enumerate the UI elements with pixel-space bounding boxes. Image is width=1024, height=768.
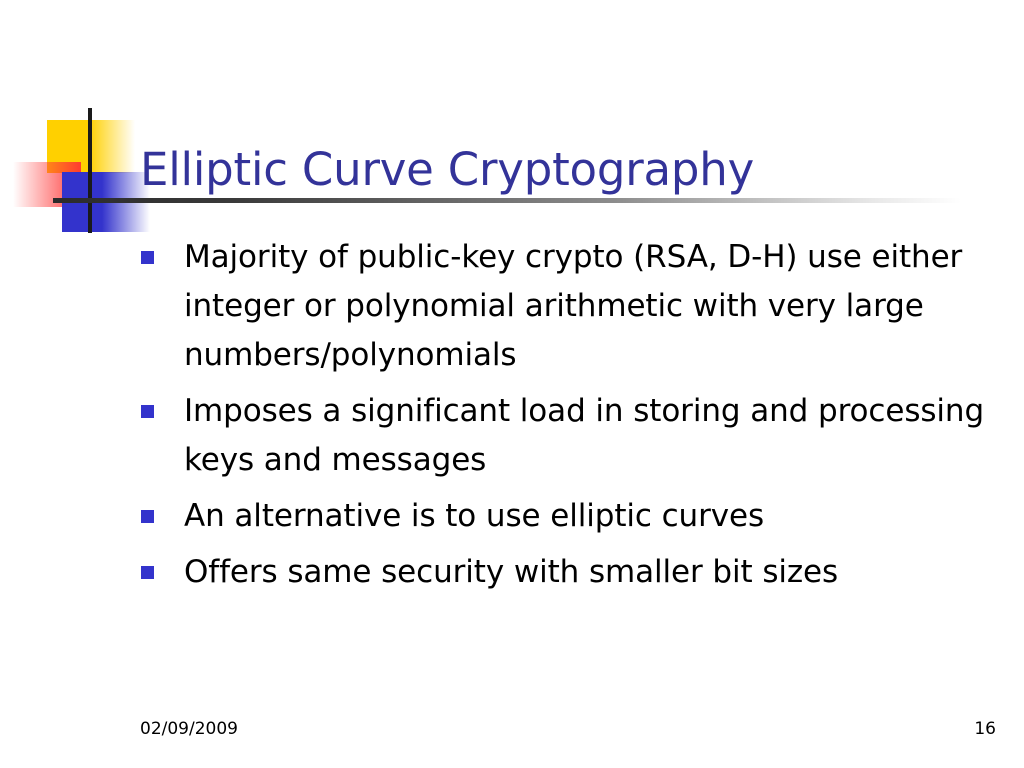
list-item: Majority of public-key crypto (RSA, D-H)… — [141, 233, 986, 380]
list-item: Offers same security with smaller bit si… — [141, 548, 986, 597]
bullet-square-icon — [141, 405, 154, 418]
footer-date: 02/09/2009 — [140, 718, 238, 740]
list-item: Imposes a significant load in storing an… — [141, 387, 986, 485]
footer-page-number: 16 — [974, 718, 996, 740]
slide-title: Elliptic Curve Cryptography — [140, 142, 1000, 198]
slide-decoration-graphic — [0, 100, 150, 245]
bullet-list: Majority of public-key crypto (RSA, D-H)… — [141, 233, 986, 604]
bullet-text: Imposes a significant load in storing an… — [184, 387, 986, 485]
title-divider-line — [53, 198, 961, 203]
list-item: An alternative is to use elliptic curves — [141, 492, 986, 541]
bullet-square-icon — [141, 566, 154, 579]
bullet-square-icon — [141, 510, 154, 523]
bullet-text: Offers same security with smaller bit si… — [184, 548, 986, 597]
bullet-text: Majority of public-key crypto (RSA, D-H)… — [184, 233, 986, 380]
bullet-square-icon — [141, 251, 154, 264]
slide-canvas: Elliptic Curve Cryptography Majority of … — [0, 0, 1024, 768]
bullet-text: An alternative is to use elliptic curves — [184, 492, 986, 541]
vertical-line-shape — [88, 108, 92, 233]
